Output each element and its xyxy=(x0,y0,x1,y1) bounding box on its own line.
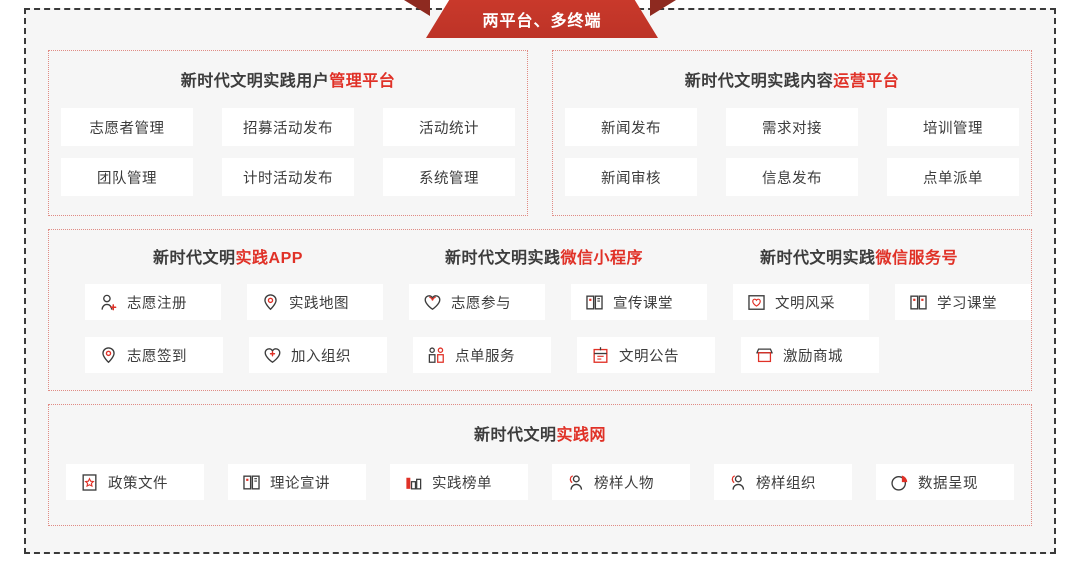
terminal-title-dark: 新时代文明实践 xyxy=(760,250,876,267)
panel-website: 新时代文明实践网 政策文件 xyxy=(48,404,1032,526)
shop-icon xyxy=(755,346,774,365)
person-ribbon-icon xyxy=(566,473,585,492)
chip-system-management[interactable]: 系统管理 xyxy=(383,158,515,196)
icon-chip-join-organization[interactable]: 加入组织 xyxy=(249,337,387,373)
terminal-row-2: 志愿签到 加入组织 xyxy=(49,337,1031,373)
terminal-title-accent: 微信服务号 xyxy=(876,250,959,267)
panel-content-operation-row-2: 新闻审核 信息发布 点单派单 xyxy=(553,158,1031,196)
icon-chip-label: 数据呈现 xyxy=(918,472,978,493)
panel-website-title: 新时代文明实践网 xyxy=(49,421,1031,445)
map-pin-icon xyxy=(99,346,118,365)
heart-icon xyxy=(423,293,442,312)
panel-content-operation: 新时代文明实践内容运营平台 新闻发布 需求对接 培训管理 新闻审核 信息发布 点… xyxy=(552,50,1032,216)
terminal-title-dark: 新时代文明实践 xyxy=(445,250,561,267)
chip-information-publish[interactable]: 信息发布 xyxy=(726,158,858,196)
terminal-row-1: 志愿注册 实践地图 志愿参与 xyxy=(49,284,1031,320)
panel-user-management-row-2: 团队管理 计时活动发布 系统管理 xyxy=(49,158,527,196)
icon-chip-order-service[interactable]: 点单服务 xyxy=(413,337,551,373)
icon-chip-data-presentation[interactable]: 数据呈现 xyxy=(876,464,1014,500)
photo-heart-icon xyxy=(747,293,766,312)
icon-chip-theory-lecture[interactable]: 理论宣讲 xyxy=(228,464,366,500)
banner-title: 两平台、多终端 xyxy=(426,0,658,38)
calendar-icon xyxy=(591,346,610,365)
icon-chip-role-model-person[interactable]: 榜样人物 xyxy=(552,464,690,500)
terminal-heading-miniprogram: 新时代文明实践微信小程序 xyxy=(379,244,709,268)
icon-chip-role-model-organization[interactable]: 榜样组织 xyxy=(714,464,852,500)
chip-order-dispatch[interactable]: 点单派单 xyxy=(887,158,1019,196)
chip-volunteer-management[interactable]: 志愿者管理 xyxy=(61,108,193,146)
panel-content-operation-row-1: 新闻发布 需求对接 培训管理 xyxy=(553,108,1031,146)
icon-chip-label: 志愿参与 xyxy=(451,292,511,313)
icon-chip-label: 文明风采 xyxy=(775,292,835,313)
chip-team-management[interactable]: 团队管理 xyxy=(61,158,193,196)
website-title-dark: 新时代文明 xyxy=(474,427,557,444)
panel-user-management-title: 新时代文明实践用户管理平台 xyxy=(49,67,527,91)
pie-chart-icon xyxy=(890,473,909,492)
panel-user-management: 新时代文明实践用户管理平台 志愿者管理 招募活动发布 活动统计 团队管理 计时活… xyxy=(48,50,528,216)
icon-chip-label: 志愿注册 xyxy=(127,292,187,313)
icon-chip-label: 榜样组织 xyxy=(756,472,816,493)
person-ribbon-icon xyxy=(728,473,747,492)
map-pin-icon xyxy=(261,293,280,312)
terminal-title-accent: 微信小程序 xyxy=(561,250,644,267)
icon-chip-label: 实践地图 xyxy=(289,292,349,313)
icon-chip-civilization-announcement[interactable]: 文明公告 xyxy=(577,337,715,373)
icon-chip-study-classroom[interactable]: 学习课堂 xyxy=(895,284,1031,320)
icon-chip-volunteer-participate[interactable]: 志愿参与 xyxy=(409,284,545,320)
outer-frame-top-right xyxy=(628,8,1056,10)
panel-title-accent: 运营平台 xyxy=(833,73,899,90)
terminal-title-accent: 实践APP xyxy=(236,250,303,267)
icon-chip-label: 政策文件 xyxy=(108,472,168,493)
icon-chip-label: 激励商城 xyxy=(783,345,843,366)
terminal-heading-service-account: 新时代文明实践微信服务号 xyxy=(709,244,1009,268)
icon-chip-civilization-style[interactable]: 文明风采 xyxy=(733,284,869,320)
icon-chip-label: 宣传课堂 xyxy=(613,292,673,313)
document-star-icon xyxy=(80,473,99,492)
icon-chip-label: 文明公告 xyxy=(619,345,679,366)
website-item-row: 政策文件 理论宣讲 xyxy=(49,464,1031,500)
chip-news-review[interactable]: 新闻审核 xyxy=(565,158,697,196)
icon-chip-label: 实践榜单 xyxy=(432,472,492,493)
terminal-heading-app: 新时代文明实践APP xyxy=(77,244,379,268)
outer-frame-top-left xyxy=(24,8,452,10)
icon-chip-label: 点单服务 xyxy=(455,345,515,366)
icon-chip-label: 加入组织 xyxy=(291,345,351,366)
open-book-icon xyxy=(242,473,261,492)
website-title-accent: 实践网 xyxy=(557,427,607,444)
chip-recruit-activity-publish[interactable]: 招募活动发布 xyxy=(222,108,354,146)
icon-chip-policy-documents[interactable]: 政策文件 xyxy=(66,464,204,500)
panel-title-accent: 管理平台 xyxy=(329,73,395,90)
infographic-page: 两平台、多终端 新时代文明实践用户管理平台 志愿者管理 招募活动发布 活动统计 … xyxy=(0,0,1080,562)
chip-activity-statistics[interactable]: 活动统计 xyxy=(383,108,515,146)
icon-chip-practice-ranking[interactable]: 实践榜单 xyxy=(390,464,528,500)
chip-news-publish[interactable]: 新闻发布 xyxy=(565,108,697,146)
icon-chip-label: 理论宣讲 xyxy=(270,472,330,493)
chip-timed-activity-publish[interactable]: 计时活动发布 xyxy=(222,158,354,196)
icon-chip-volunteer-register[interactable]: 志愿注册 xyxy=(85,284,221,320)
two-people-icon xyxy=(427,346,446,365)
chip-training-management[interactable]: 培训管理 xyxy=(887,108,1019,146)
icon-chip-volunteer-checkin[interactable]: 志愿签到 xyxy=(85,337,223,373)
user-add-icon xyxy=(99,293,118,312)
open-book-icon xyxy=(909,293,928,312)
icon-chip-label: 志愿签到 xyxy=(127,345,187,366)
panel-user-management-row-1: 志愿者管理 招募活动发布 活动统计 xyxy=(49,108,527,146)
panel-title-dark: 新时代文明实践内容 xyxy=(685,73,834,90)
heart-plus-icon xyxy=(263,346,282,365)
chip-demand-matching[interactable]: 需求对接 xyxy=(726,108,858,146)
panel-terminals: 新时代文明实践APP 新时代文明实践微信小程序 新时代文明实践微信服务号 志 xyxy=(48,229,1032,391)
panel-content-operation-title: 新时代文明实践内容运营平台 xyxy=(553,67,1031,91)
icon-chip-incentive-mall[interactable]: 激励商城 xyxy=(741,337,879,373)
icon-chip-label: 榜样人物 xyxy=(594,472,654,493)
panel-title-dark: 新时代文明实践用户 xyxy=(181,73,330,90)
icon-chip-label: 学习课堂 xyxy=(937,292,997,313)
icon-chip-publicity-classroom[interactable]: 宣传课堂 xyxy=(571,284,707,320)
icon-chip-practice-map[interactable]: 实践地图 xyxy=(247,284,383,320)
bar-chart-icon xyxy=(404,473,423,492)
terminal-column-headings: 新时代文明实践APP 新时代文明实践微信小程序 新时代文明实践微信服务号 xyxy=(49,244,1031,268)
terminal-title-dark: 新时代文明 xyxy=(153,250,236,267)
open-book-icon xyxy=(585,293,604,312)
